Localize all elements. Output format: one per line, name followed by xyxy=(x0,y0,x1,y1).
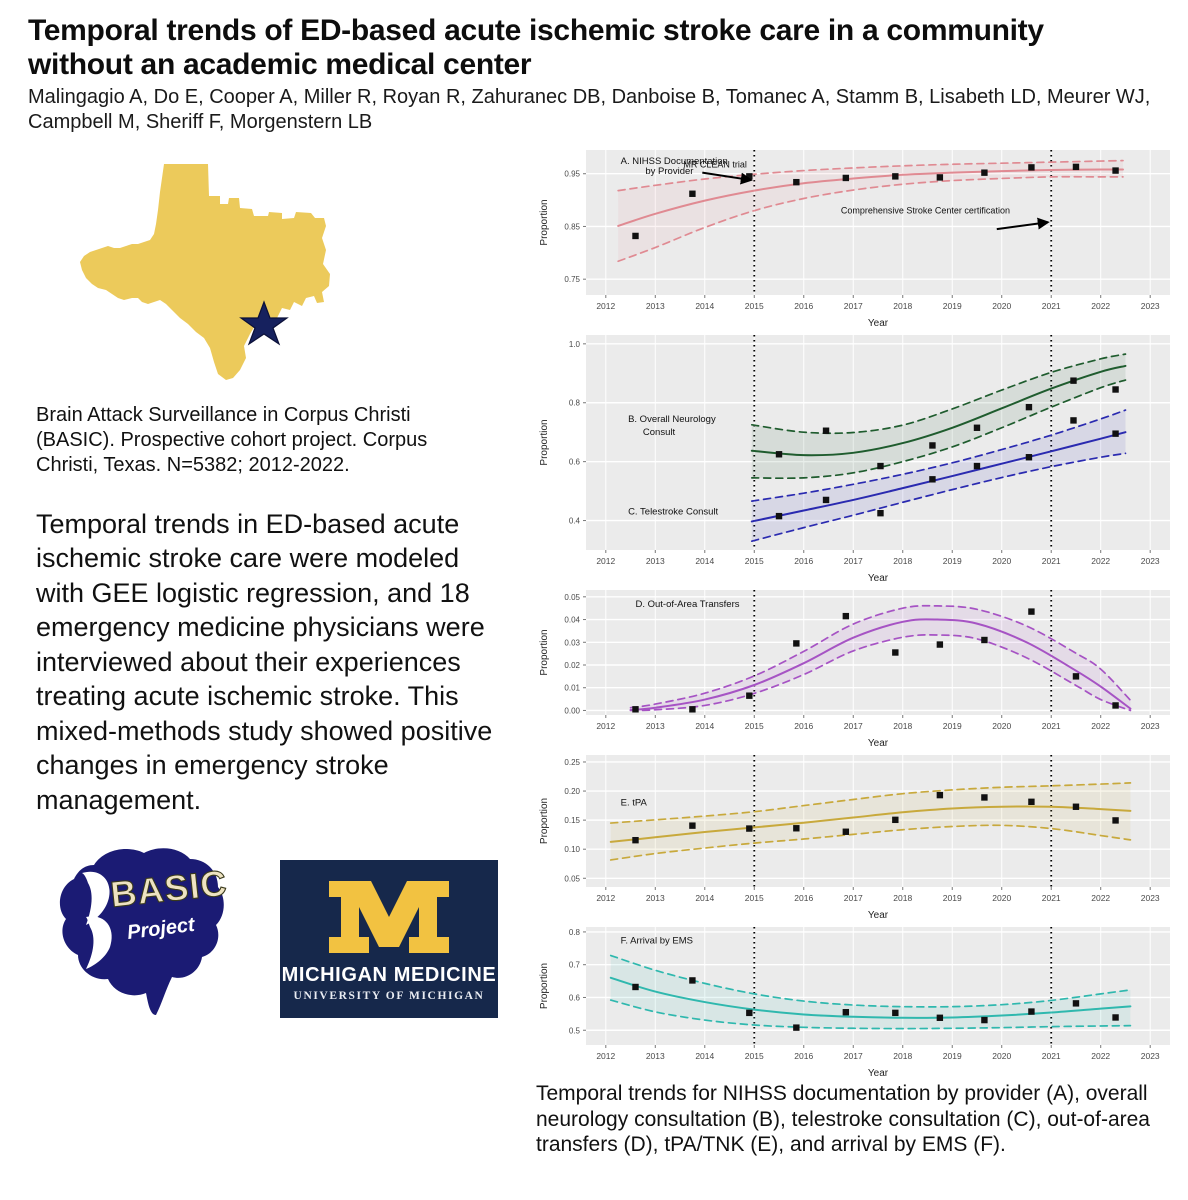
data-point xyxy=(877,463,883,469)
x-tick-label: 2021 xyxy=(1042,301,1061,311)
y-tick-label: 0.05 xyxy=(564,874,580,883)
y-axis-label: Proportion xyxy=(539,629,550,675)
data-point xyxy=(929,442,935,448)
poster-body: Brain Attack Surveillance in Corpus Chri… xyxy=(28,144,1172,1158)
panel-label-b-line2: Consult xyxy=(643,427,676,438)
study-summary: Temporal trends in ED-based acute ischem… xyxy=(36,507,496,818)
x-tick-label: 2016 xyxy=(794,301,813,311)
panel-d: 0.000.010.020.030.040.052012201320142015… xyxy=(534,584,1184,749)
x-tick-label: 2014 xyxy=(695,721,714,731)
figure-caption: Temporal trends for NIHSS documentation … xyxy=(536,1081,1176,1158)
data-point xyxy=(793,1024,799,1030)
x-tick-label: 2016 xyxy=(794,1051,813,1061)
data-point xyxy=(1028,1008,1034,1014)
x-tick-label: 2017 xyxy=(844,893,863,903)
data-point xyxy=(974,463,980,469)
data-point xyxy=(746,692,752,698)
data-point xyxy=(1112,1014,1118,1020)
annotation-csc: Comprehensive Stroke Center certificatio… xyxy=(841,205,1010,215)
data-point xyxy=(793,825,799,831)
data-point xyxy=(1073,673,1079,679)
panel-label-b: B. Overall Neurology xyxy=(628,414,716,425)
x-tick-label: 2013 xyxy=(646,721,665,731)
x-tick-label: 2023 xyxy=(1141,893,1160,903)
block-m-svg xyxy=(325,877,453,957)
data-point xyxy=(1028,799,1034,805)
x-tick-label: 2014 xyxy=(695,301,714,311)
y-tick-label: 0.4 xyxy=(569,517,581,526)
data-point xyxy=(793,179,799,185)
author-list: Malingagio A, Do E, Cooper A, Miller R, … xyxy=(28,85,1158,134)
basic-project-logo: BASIC Project xyxy=(46,843,246,1018)
panel-e: 0.050.100.150.200.2520122013201420152016… xyxy=(534,749,1184,921)
chart-E: 0.050.100.150.200.2520122013201420152016… xyxy=(534,749,1184,921)
data-point xyxy=(1073,1000,1079,1006)
y-tick-label: 0.04 xyxy=(564,616,580,625)
texas-map xyxy=(68,152,358,387)
panel-a: 0.750.850.952012201320142015201620172018… xyxy=(534,144,1184,329)
x-tick-label: 2014 xyxy=(695,1051,714,1061)
y-tick-label: 0.6 xyxy=(569,458,581,467)
x-tick-label: 2013 xyxy=(646,1051,665,1061)
data-point xyxy=(937,174,943,180)
x-tick-label: 2020 xyxy=(992,1051,1011,1061)
y-axis-label: Proportion xyxy=(539,199,550,245)
x-tick-label: 2017 xyxy=(844,1051,863,1061)
data-point xyxy=(877,510,883,516)
x-axis-label: Year xyxy=(868,318,889,329)
y-tick-label: 0.8 xyxy=(569,399,581,408)
data-point xyxy=(746,825,752,831)
logo-row: BASIC Project MICHIGAN MEDICINE UNIVERSI… xyxy=(46,843,528,1018)
panel-bc: 0.40.60.81.02012201320142015201620172018… xyxy=(534,329,1184,584)
chart-D: 0.000.010.020.030.040.052012201320142015… xyxy=(534,584,1184,749)
panel-label-d: D. Out-of-Area Transfers xyxy=(635,599,739,610)
y-axis-label: Proportion xyxy=(539,419,550,465)
x-tick-label: 2017 xyxy=(844,301,863,311)
y-tick-label: 0.05 xyxy=(564,593,580,602)
data-point xyxy=(937,1015,943,1021)
x-tick-label: 2012 xyxy=(596,301,615,311)
x-tick-label: 2019 xyxy=(943,721,962,731)
data-point xyxy=(776,513,782,519)
x-tick-label: 2017 xyxy=(844,721,863,731)
study-blurb: Brain Attack Surveillance in Corpus Chri… xyxy=(36,403,456,479)
x-tick-label: 2022 xyxy=(1091,1051,1110,1061)
data-point xyxy=(937,792,943,798)
left-column: Brain Attack Surveillance in Corpus Chri… xyxy=(28,144,528,1158)
x-tick-label: 2014 xyxy=(695,893,714,903)
michigan-medicine-subtitle: UNIVERSITY OF MICHIGAN xyxy=(294,990,485,1002)
x-tick-label: 2021 xyxy=(1042,721,1061,731)
x-tick-label: 2021 xyxy=(1042,1051,1061,1061)
panel-label-e: E. tPA xyxy=(621,798,648,809)
data-point xyxy=(776,451,782,457)
x-tick-label: 2023 xyxy=(1141,301,1160,311)
data-point xyxy=(823,427,829,433)
basic-logo-svg: BASIC Project xyxy=(46,843,246,1018)
x-tick-label: 2022 xyxy=(1091,721,1110,731)
x-tick-label: 2015 xyxy=(745,301,764,311)
y-tick-label: 0.03 xyxy=(564,638,580,647)
y-tick-label: 0.75 xyxy=(564,275,580,284)
x-tick-label: 2022 xyxy=(1091,893,1110,903)
data-point xyxy=(937,641,943,647)
chart-A: 0.750.850.952012201320142015201620172018… xyxy=(534,144,1184,329)
x-tick-label: 2019 xyxy=(943,893,962,903)
x-tick-label: 2018 xyxy=(893,893,912,903)
data-point xyxy=(1070,417,1076,423)
x-tick-label: 2021 xyxy=(1042,893,1061,903)
x-tick-label: 2019 xyxy=(943,556,962,566)
x-tick-label: 2018 xyxy=(893,721,912,731)
x-tick-label: 2016 xyxy=(794,893,813,903)
block-m-shape xyxy=(329,881,449,953)
x-tick-label: 2012 xyxy=(596,721,615,731)
x-tick-label: 2013 xyxy=(646,301,665,311)
data-point xyxy=(1028,164,1034,170)
data-point xyxy=(1112,386,1118,392)
x-tick-label: 2023 xyxy=(1141,721,1160,731)
data-point xyxy=(981,637,987,643)
data-point xyxy=(843,175,849,181)
data-point xyxy=(1112,702,1118,708)
michigan-medicine-logo: MICHIGAN MEDICINE UNIVERSITY OF MICHIGAN xyxy=(280,860,498,1018)
panel-f: 0.50.60.70.82012201320142015201620172018… xyxy=(534,921,1184,1079)
x-tick-label: 2016 xyxy=(794,721,813,731)
data-point xyxy=(793,640,799,646)
y-tick-label: 0.25 xyxy=(564,758,580,767)
x-axis-label: Year xyxy=(868,910,889,921)
y-tick-label: 0.15 xyxy=(564,816,580,825)
x-tick-label: 2016 xyxy=(794,556,813,566)
x-tick-label: 2013 xyxy=(646,893,665,903)
y-axis-label: Proportion xyxy=(539,963,550,1009)
texas-map-svg xyxy=(68,152,358,387)
data-point xyxy=(1070,377,1076,383)
data-point xyxy=(689,706,695,712)
y-tick-label: 0.20 xyxy=(564,787,580,796)
panel-label-c: C. Telestroke Consult xyxy=(628,507,718,518)
data-point xyxy=(1073,804,1079,810)
y-tick-label: 0.01 xyxy=(564,684,580,693)
page-title: Temporal trends of ED-based acute ischem… xyxy=(28,14,1148,81)
chart-BC: 0.40.60.81.02012201320142015201620172018… xyxy=(534,329,1184,584)
right-column: 0.750.850.952012201320142015201620172018… xyxy=(528,144,1184,1158)
data-point xyxy=(746,1010,752,1016)
data-point xyxy=(981,794,987,800)
poster-root: Temporal trends of ED-based acute ischem… xyxy=(0,0,1188,1200)
x-tick-label: 2020 xyxy=(992,301,1011,311)
y-tick-label: 0.85 xyxy=(564,222,580,231)
data-point xyxy=(1073,164,1079,170)
y-axis-label: Proportion xyxy=(539,798,550,844)
x-axis-label: Year xyxy=(868,573,889,584)
x-tick-label: 2015 xyxy=(745,721,764,731)
data-point xyxy=(632,706,638,712)
data-point xyxy=(1026,404,1032,410)
x-tick-label: 2012 xyxy=(596,1051,615,1061)
x-tick-label: 2020 xyxy=(992,721,1011,731)
data-point xyxy=(929,476,935,482)
y-tick-label: 0.8 xyxy=(569,928,581,937)
data-point xyxy=(1112,817,1118,823)
data-point xyxy=(1112,167,1118,173)
x-axis-label: Year xyxy=(868,1068,889,1079)
x-tick-label: 2018 xyxy=(893,556,912,566)
x-tick-label: 2018 xyxy=(893,301,912,311)
data-point xyxy=(892,173,898,179)
x-tick-label: 2013 xyxy=(646,556,665,566)
x-tick-label: 2020 xyxy=(992,893,1011,903)
michigan-block-m-icon xyxy=(325,877,453,957)
data-point xyxy=(1028,608,1034,614)
x-tick-label: 2023 xyxy=(1141,556,1160,566)
data-point xyxy=(1026,454,1032,460)
x-tick-label: 2015 xyxy=(745,893,764,903)
x-axis-label: Year xyxy=(868,738,889,749)
y-tick-label: 0.10 xyxy=(564,845,580,854)
data-point xyxy=(981,1017,987,1023)
x-tick-label: 2017 xyxy=(844,556,863,566)
x-tick-label: 2012 xyxy=(596,556,615,566)
x-tick-label: 2021 xyxy=(1042,556,1061,566)
data-point xyxy=(843,613,849,619)
data-point xyxy=(843,1009,849,1015)
michigan-medicine-name: MICHIGAN MEDICINE xyxy=(282,964,497,987)
panel-label-f: F. Arrival by EMS xyxy=(621,935,693,946)
data-point xyxy=(892,817,898,823)
data-point xyxy=(632,837,638,843)
data-point xyxy=(689,822,695,828)
data-point xyxy=(689,977,695,983)
y-tick-label: 0.7 xyxy=(569,961,581,970)
data-point xyxy=(689,191,695,197)
x-tick-label: 2015 xyxy=(745,556,764,566)
data-point xyxy=(632,984,638,990)
texas-outline-shape xyxy=(80,164,330,380)
annotation-mr-clean: MR CLEAN trial xyxy=(683,159,747,169)
data-point xyxy=(823,497,829,503)
x-tick-label: 2014 xyxy=(695,556,714,566)
y-tick-label: 0.6 xyxy=(569,993,581,1002)
y-tick-label: 0.95 xyxy=(564,170,580,179)
chart-F: 0.50.60.70.82012201320142015201620172018… xyxy=(534,921,1184,1079)
x-tick-label: 2022 xyxy=(1091,556,1110,566)
y-tick-label: 0.5 xyxy=(569,1026,581,1035)
data-point xyxy=(843,829,849,835)
x-tick-label: 2015 xyxy=(745,1051,764,1061)
x-tick-label: 2020 xyxy=(992,556,1011,566)
y-tick-label: 0.00 xyxy=(564,706,580,715)
data-point xyxy=(974,425,980,431)
y-tick-label: 0.02 xyxy=(564,661,580,670)
data-point xyxy=(981,169,987,175)
x-tick-label: 2012 xyxy=(596,893,615,903)
x-tick-label: 2019 xyxy=(943,1051,962,1061)
data-point xyxy=(1112,430,1118,436)
x-tick-label: 2018 xyxy=(893,1051,912,1061)
x-tick-label: 2023 xyxy=(1141,1051,1160,1061)
data-point xyxy=(632,233,638,239)
data-point xyxy=(892,649,898,655)
y-tick-label: 1.0 xyxy=(569,340,581,349)
data-point xyxy=(892,1010,898,1016)
x-tick-label: 2019 xyxy=(943,301,962,311)
x-tick-label: 2022 xyxy=(1091,301,1110,311)
figure-panels: 0.750.850.952012201320142015201620172018… xyxy=(534,144,1184,1079)
